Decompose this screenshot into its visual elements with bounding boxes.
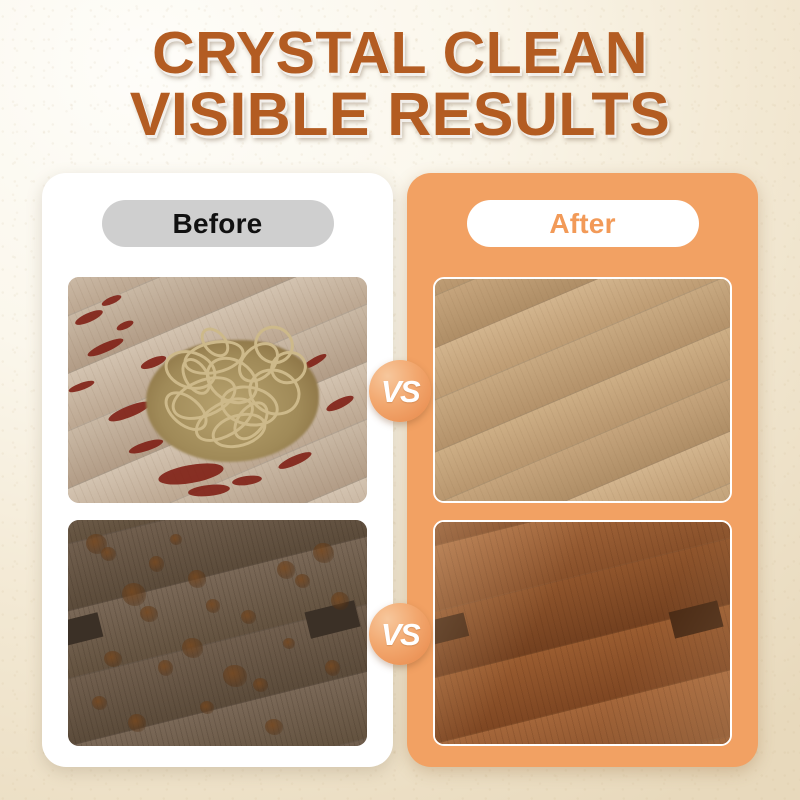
vs-badge-top-text: VS <box>381 376 419 407</box>
before-label-pill: Before <box>102 200 334 247</box>
wood-grain <box>433 277 732 503</box>
headline-line-2: VISIBLE RESULTS <box>0 86 800 143</box>
restored-walnut-floor-surface <box>435 522 730 744</box>
after-panel: After <box>407 173 758 767</box>
before-photo-spaghetti[interactable] <box>68 277 367 503</box>
before-label-text: Before <box>173 208 263 240</box>
after-label-text: After <box>549 208 615 240</box>
headline-line-1: CRYSTAL CLEAN <box>0 26 800 81</box>
floor-sheen <box>435 522 730 744</box>
after-photo-clean-oak[interactable] <box>433 277 732 503</box>
spaghetti-noodles <box>158 336 313 463</box>
after-photo-restored-walnut[interactable] <box>433 520 732 746</box>
before-photo-stained-floor[interactable] <box>68 520 367 746</box>
vs-badge-top: VS <box>369 360 431 422</box>
vs-badge-bottom-text: VS <box>381 619 419 650</box>
rust-stain-spots <box>68 520 367 746</box>
stained-wood-floor-surface <box>68 520 367 746</box>
clean-oak-floor-surface <box>435 279 730 501</box>
before-after-comparison: Before <box>42 173 758 767</box>
page-title: CRYSTAL CLEAN VISIBLE RESULTS <box>0 26 800 143</box>
light-wood-floor-surface <box>68 277 367 503</box>
before-panel: Before <box>42 173 393 767</box>
vs-badge-bottom: VS <box>369 603 431 665</box>
after-label-pill: After <box>467 200 699 247</box>
